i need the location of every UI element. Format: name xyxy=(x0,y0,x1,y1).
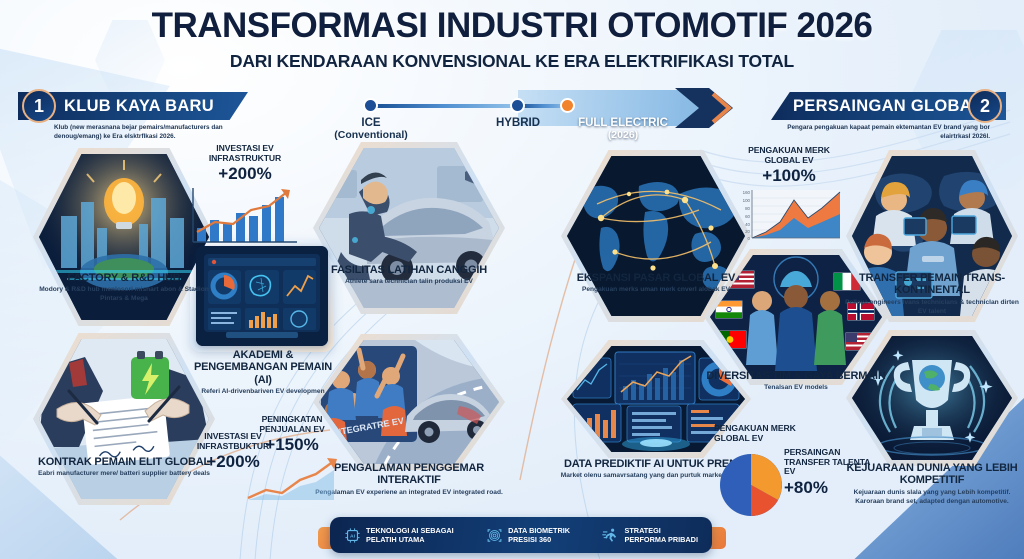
timeline-label-ice: ICE (Conventional) xyxy=(334,117,408,142)
stat-persaingan-transfer-talenta-ev: PERSAINGAN TRANSFER TALENTA EV +80% xyxy=(784,448,876,498)
ai-chip-icon: AI xyxy=(344,527,361,544)
svg-text:AI: AI xyxy=(350,533,356,539)
stat-peningkatan-penjualan-ev-label: PENINGKATAN PENJUALAN EV xyxy=(240,415,344,434)
card-ekspansi-title: EKSPANSI PASAR GLOBAL EV xyxy=(558,272,754,284)
stat-investasi-ev-infrastruktur-value: +200% xyxy=(186,164,304,184)
section-banner-right-label: PERSAINGAN GLOBAL xyxy=(793,97,982,116)
timeline-label-hybrid: HYBRID xyxy=(496,117,540,130)
footer-item-teknologi-ai-text: TEKNOLOGI AI SEBAGAI PELATIH UTAMA xyxy=(366,526,454,545)
footer-item-teknologi-ai[interactable]: AI TEKNOLOGI AI SEBAGAI PELATIH UTAMA xyxy=(344,526,454,545)
card-fasilitas-caption: FASILITAS LATIHAN CANGGIH Athlete sara t… xyxy=(310,264,508,287)
card-factory-rd-hub-caption: FACTORY & R&D HUB Modory & R&D hub menlo… xyxy=(28,272,220,304)
timeline-sublabel-full-electric-text: (2026) xyxy=(578,130,668,142)
footer-bar: AI TEKNOLOGI AI SEBAGAI PELATIH UTAMA xyxy=(330,517,712,553)
stat-pengakuan-merk-global-ev-label: PENGAKUAN MERK GLOBAL EV xyxy=(730,146,848,165)
infographic-canvas: TRANSFORMASI INDUSTRI OTOMOTIF 2026 DARI… xyxy=(0,0,1024,559)
stat-persaingan-transfer-talenta-ev-label: PERSAINGAN TRANSFER TALENTA EV xyxy=(784,448,876,477)
timeline-connector-1 xyxy=(373,104,513,108)
timeline-dot-ice[interactable] xyxy=(363,98,378,113)
stat-pengakuan-merk-global-ev: PENGAKUAN MERK GLOBAL EV +100% 16010080 … xyxy=(730,146,848,244)
svg-text:40: 40 xyxy=(745,222,750,227)
footer-item-strategi-performa-text: STRATEGI PERFORMA PRIBADI xyxy=(624,526,698,545)
fingerprint-scan-icon xyxy=(486,527,503,544)
footer-item-strategi-performa[interactable]: STRATEGI PERFORMA PRIBADI xyxy=(602,526,698,545)
card-diversitas-subtitle: Tenalsan EV models xyxy=(700,384,892,393)
footer-item-data-biometrik[interactable]: DATA BIOMETRIK PRESISI 360 xyxy=(486,526,570,545)
svg-text:80: 80 xyxy=(745,206,750,211)
card-transfer-caption: TRANSFER PEMAIN TRANS-KONTINENTAL Pellay… xyxy=(840,272,1024,316)
card-akademi-subtitle: Referi AI-drivenbariven EV developmen xyxy=(190,388,336,397)
timeline-dot-hybrid[interactable] xyxy=(510,98,525,113)
footer-item-data-biometrik-text: DATA BIOMETRIK PRESISI 360 xyxy=(508,526,570,545)
footer-item-data-biometrik-line2: PRESISI 360 xyxy=(508,535,551,544)
section-number-badge-2: 2 xyxy=(968,89,1002,123)
timeline-label-full-electric: FULL ELECTRIC (2026) xyxy=(578,117,668,142)
timeline-sublabel-ice-text: (Conventional) xyxy=(334,130,408,142)
section-description-left: Klub (new merasnana bejar pemairs/manufa… xyxy=(54,123,269,142)
timeline-arrow-icon xyxy=(673,82,745,134)
timeline-label-ice-text: ICE xyxy=(361,117,380,129)
svg-text:60: 60 xyxy=(745,214,750,219)
card-factory-rd-hub-title: FACTORY & R&D HUB xyxy=(28,272,220,284)
card-transfer-subtitle: Pellaya engineers lvans techniclans & te… xyxy=(840,299,1024,317)
runner-icon xyxy=(602,527,619,544)
stat-peningkatan-penjualan-ev-value: +150% xyxy=(240,435,344,455)
card-transfer-title: TRANSFER PEMAIN TRANS-KONTINENTAL xyxy=(840,272,1024,297)
card-akademi-caption: AKADEMI & PENGEMBANGAN PEMAIN (AI) Refer… xyxy=(190,349,336,397)
section-description-right: Pengara pengakuan kapaat pemain ektemant… xyxy=(775,123,990,142)
stat-pengakuan-merk-global-ev-value: +100% xyxy=(730,166,848,186)
card-factory-rd-hub-subtitle: Modory & R&D hub menlosori misnart abon … xyxy=(28,286,220,304)
card-akademi-title: AKADEMI & PENGEMBANGAN PEMAIN (AI) xyxy=(190,349,336,386)
stat-pengakuan-merk-global-ev-pie-label-text: PENGAKUAN MERK GLOBAL EV xyxy=(714,424,824,443)
section-banner-left-label: KLUB KAYA BARU xyxy=(64,97,214,116)
card-diversitas-title: DIVERSITAS TIM & GAYA BERMAIN xyxy=(700,370,892,382)
section-number-badge-1: 1 xyxy=(22,89,56,123)
page-title: TRANSFORMASI INDUSTRI OTOMOTIF 2026 xyxy=(0,8,1024,45)
stat-investasi-ev-infrastruktur-label: INVESTASI EV INFRASTRUKTUR xyxy=(186,144,304,163)
page-subtitle: DARI KENDARAAN KONVENSIONAL KE ERA ELEKT… xyxy=(0,51,1024,72)
timeline-label-hybrid-text: HYBRID xyxy=(496,117,540,129)
svg-text:100: 100 xyxy=(743,198,751,203)
pie-chart-transfer-talenta xyxy=(716,450,786,520)
transition-timeline: ICE (Conventional) HYBRID FULL ELECTRIC … xyxy=(355,96,725,142)
line-chart-penjualan xyxy=(242,456,342,502)
timeline-dot-full-electric[interactable] xyxy=(560,98,575,113)
svg-text:20: 20 xyxy=(745,229,750,234)
stat-persaingan-transfer-talenta-ev-value: +80% xyxy=(784,478,876,498)
card-fasilitas-title: FASILITAS LATIHAN CANGGIH xyxy=(310,264,508,276)
card-ekspansi-subtitle: Pengakuan merks uman merk cnverl alobak … xyxy=(558,286,754,295)
footer-item-data-biometrik-line1: DATA BIOMETRIK xyxy=(508,526,570,535)
bar-chart-investasi xyxy=(189,186,301,244)
footer-item-teknologi-ai-line2: PELATIH UTAMA xyxy=(366,535,425,544)
timeline-label-full-electric-text: FULL ELECTRIC xyxy=(578,117,668,129)
stat-investasi-ev-infrastruktur: INVESTASI EV INFRASTRUKTUR +200% xyxy=(186,144,304,244)
card-fasilitas-subtitle: Athlete sara technician talin produksl E… xyxy=(310,278,508,287)
area-chart-pengakuan: 16010080 6040200 xyxy=(734,188,844,244)
stat-pengakuan-merk-global-ev-pie-label: PENGAKUAN MERK GLOBAL EV xyxy=(714,424,824,443)
title-block: TRANSFORMASI INDUSTRI OTOMOTIF 2026 DARI… xyxy=(0,8,1024,72)
svg-text:160: 160 xyxy=(743,190,751,195)
svg-text:0: 0 xyxy=(748,236,751,241)
card-diversitas-caption: DIVERSITAS TIM & GAYA BERMAIN Tenalsan E… xyxy=(700,370,892,393)
footer-item-strategi-performa-line1: STRATEGI xyxy=(624,526,660,535)
stat-peningkatan-penjualan-ev: PENINGKATAN PENJUALAN EV +150% xyxy=(240,415,344,502)
footer-item-teknologi-ai-line1: TEKNOLOGI AI SEBAGAI xyxy=(366,526,454,535)
footer-item-strategi-performa-line2: PERFORMA PRIBADI xyxy=(624,535,698,544)
section-number-1-text: 1 xyxy=(34,96,44,117)
section-number-2-text: 2 xyxy=(980,96,990,117)
card-ekspansi-caption: EKSPANSI PASAR GLOBAL EV Pengakuan merks… xyxy=(558,272,754,295)
